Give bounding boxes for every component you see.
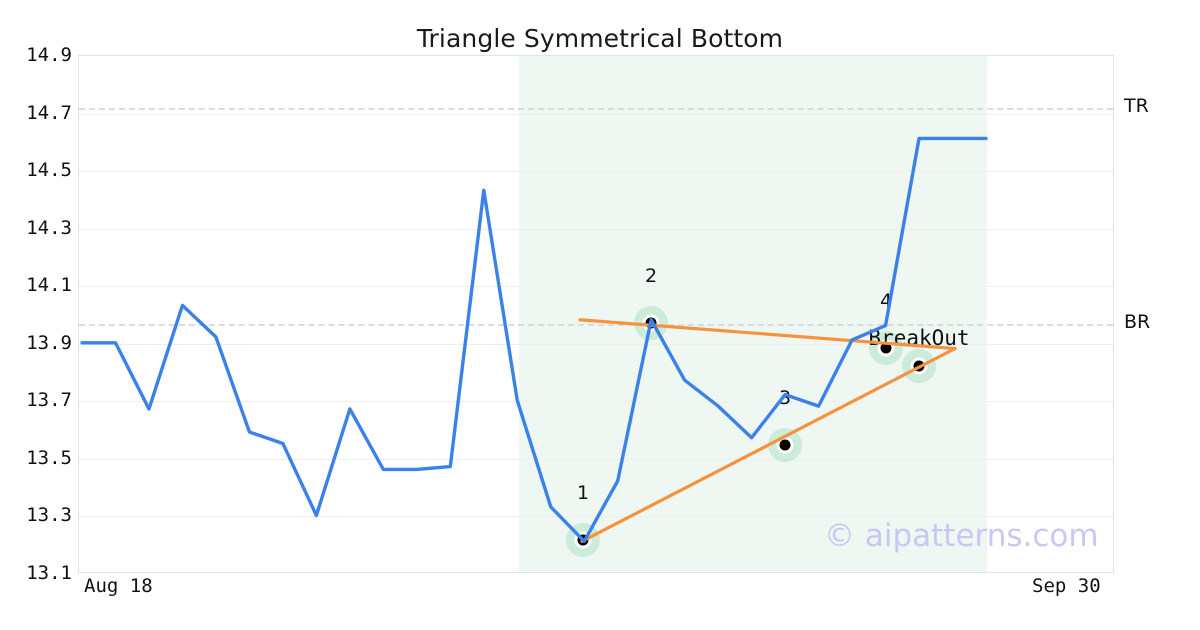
trendline-group — [580, 320, 955, 542]
upper-resistance — [580, 320, 955, 349]
chart-root: Triangle Symmetrical Bottom 1234BreakOut… — [0, 0, 1200, 630]
price-line-group — [82, 138, 986, 541]
price-line — [82, 138, 986, 541]
watermark: © aipatterns.com — [824, 518, 1099, 554]
